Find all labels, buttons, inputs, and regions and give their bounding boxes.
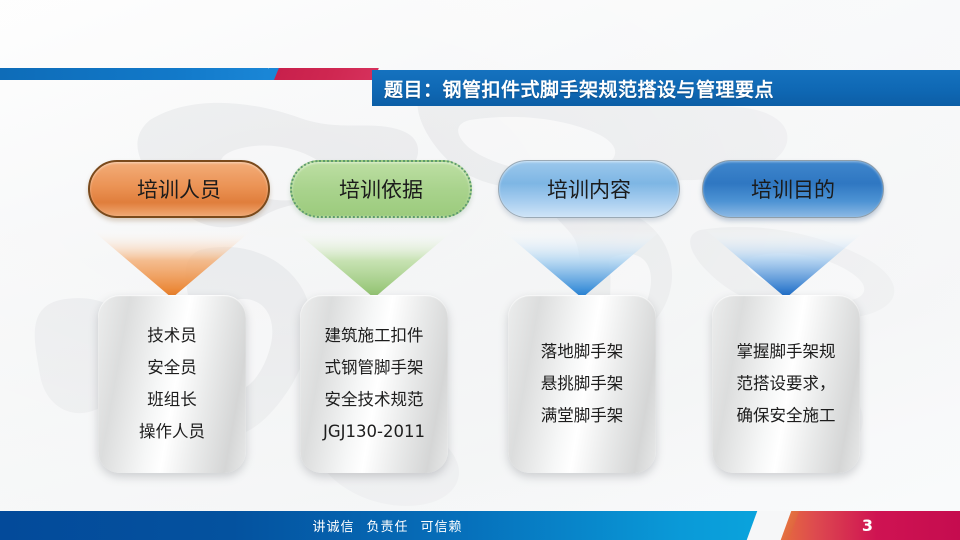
footer-slogan: 讲诚信 负责任 可信赖 (0, 511, 775, 540)
content-line: 式钢管脚手架 (325, 352, 424, 384)
content-line: JGJ130-2011 (323, 416, 425, 448)
footer-slogan-part-2: 负责任 (366, 516, 408, 535)
content-box-training-basis: 建筑施工扣件 式钢管脚手架 安全技术规范 JGJ130-2011 (300, 295, 448, 473)
content-line: 安全技术规范 (325, 384, 424, 416)
content-box-training-purpose: 掌握脚手架规 范搭设要求， 确保安全施工 (712, 295, 860, 473)
arrow-down-icon-3 (706, 230, 866, 298)
page-number: 3 (775, 511, 960, 540)
slide-canvas: 题目：钢管扣件式脚手架规范搭设与管理要点 培训人员 培训依据 培训内容 培训目的 (0, 0, 960, 540)
footer-slogan-part-1: 讲诚信 (312, 516, 354, 535)
pill-label-0: 培训人员 (137, 174, 221, 204)
page-title: 题目：钢管扣件式脚手架规范搭设与管理要点 (372, 70, 960, 106)
content-line: 落地脚手架 (541, 336, 624, 368)
page-title-text: 题目：钢管扣件式脚手架规范搭设与管理要点 (384, 75, 774, 102)
content-line: 掌握脚手架规 (737, 336, 836, 368)
content-line: 满堂脚手架 (541, 400, 624, 432)
content-line: 班组长 (147, 384, 197, 416)
pill-training-purpose[interactable]: 培训目的 (702, 160, 884, 218)
arrow-down-icon-1 (294, 230, 454, 298)
footer-slogan-part-3: 可信赖 (421, 516, 463, 535)
content-box-training-content: 落地脚手架 悬挑脚手架 满堂脚手架 (508, 295, 656, 473)
pill-training-personnel[interactable]: 培训人员 (88, 160, 270, 218)
content-box-training-personnel: 技术员 安全员 班组长 操作人员 (98, 295, 246, 473)
content-line: 操作人员 (139, 416, 205, 448)
header-bar-red-slant (274, 68, 379, 80)
content-line: 建筑施工扣件 (325, 320, 424, 352)
content-line: 确保安全施工 (737, 400, 836, 432)
arrow-down-icon-0 (92, 230, 252, 298)
header-bar-blue (0, 68, 268, 80)
arrow-down-icon-2 (502, 230, 662, 298)
pill-label-1: 培训依据 (339, 174, 423, 204)
content-line: 技术员 (147, 320, 197, 352)
pill-training-content[interactable]: 培训内容 (498, 160, 680, 218)
pill-label-2: 培训内容 (547, 174, 631, 204)
content-line: 范搭设要求， (737, 368, 836, 400)
content-line: 安全员 (147, 352, 197, 384)
pill-training-basis[interactable]: 培训依据 (290, 160, 472, 218)
content-line: 悬挑脚手架 (541, 368, 624, 400)
pill-label-3: 培训目的 (751, 174, 835, 204)
